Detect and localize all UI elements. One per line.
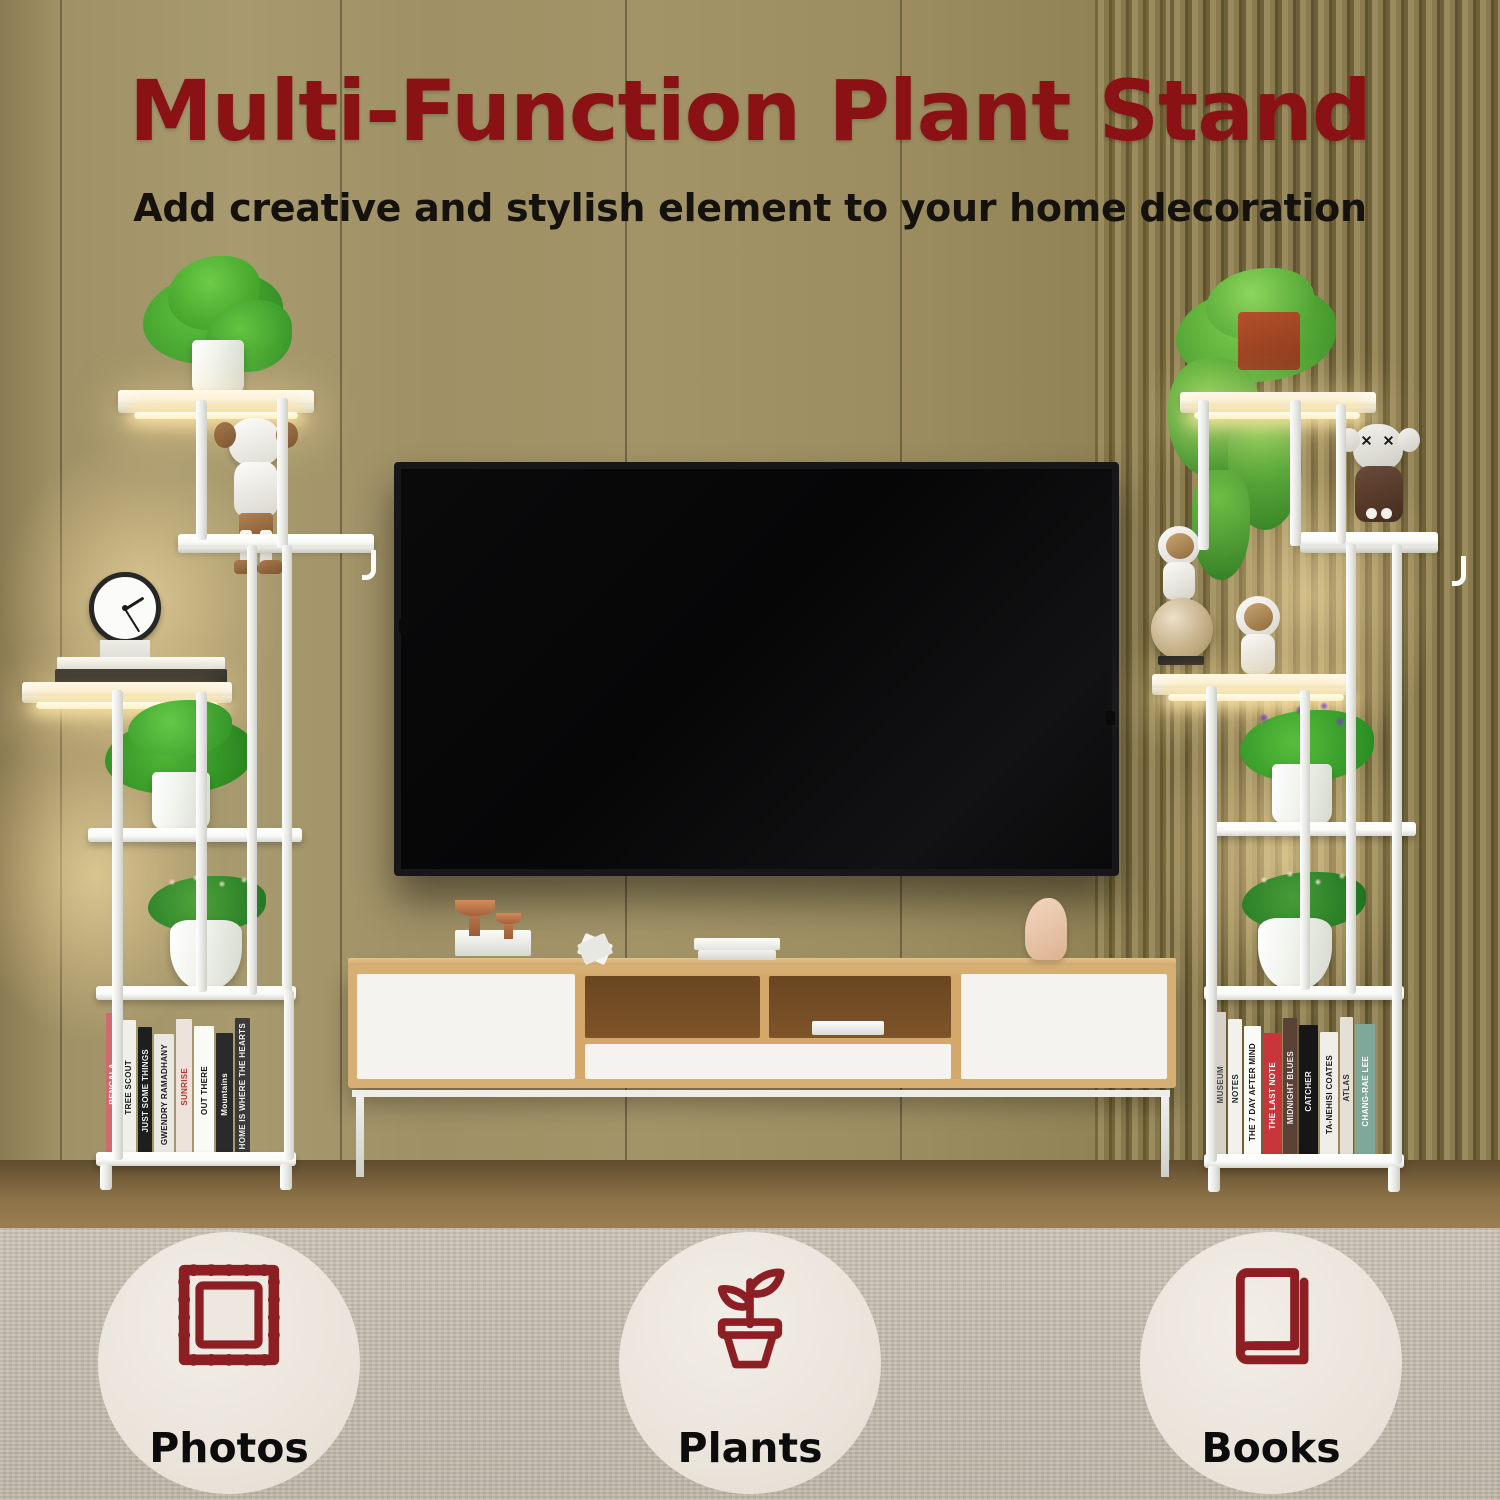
stand-post bbox=[1336, 404, 1346, 544]
stand-post bbox=[284, 990, 294, 1160]
book-title: ATLAS bbox=[1342, 1074, 1351, 1102]
white-plant-pot bbox=[192, 340, 244, 396]
stand-base-shelf bbox=[1204, 1154, 1404, 1168]
book-row-left: BENGALATREE SCOUTJUST SOME THINGSGWENDRY… bbox=[106, 1010, 250, 1155]
book-title: TA-NEHISI COATES bbox=[1325, 1055, 1334, 1134]
book-title: CATCHER bbox=[1304, 1071, 1313, 1112]
console-leg bbox=[1161, 1095, 1169, 1177]
flower-blooms bbox=[160, 872, 256, 906]
book-title: SUNRISE bbox=[180, 1068, 189, 1106]
book-title: THE LAST NOTE bbox=[1268, 1062, 1277, 1129]
beige-face-sculpture bbox=[1025, 898, 1067, 960]
book-title: NOTES bbox=[1231, 1074, 1240, 1103]
product-marketing-image: Multi-Function Plant Stand Add creative … bbox=[0, 0, 1500, 1500]
white-tray-stack bbox=[698, 950, 776, 960]
badge-label: Books bbox=[1140, 1424, 1402, 1472]
badge-books[interactable]: Books bbox=[1140, 1232, 1402, 1494]
stand-post bbox=[112, 690, 123, 1160]
tv-console bbox=[348, 965, 1176, 1088]
stand-post bbox=[1346, 544, 1356, 994]
book-spine: GWENDRY RAMADHANY bbox=[154, 1034, 174, 1155]
stand-post bbox=[1392, 544, 1402, 1164]
table-clock bbox=[89, 572, 161, 644]
terracotta-pot bbox=[1238, 312, 1300, 370]
shelf-edge bbox=[1300, 546, 1438, 553]
console-drawer bbox=[585, 1044, 951, 1079]
white-tray-stack bbox=[694, 938, 780, 950]
stand-shelf-4 bbox=[1212, 822, 1416, 836]
stand-post bbox=[196, 692, 207, 992]
book-spine: CHANG-RAE LEE bbox=[1355, 1024, 1375, 1158]
book-title: Mountains bbox=[220, 1073, 229, 1116]
book-title: JUST SOME THINGS bbox=[141, 1049, 150, 1132]
book-spine: ATLAS bbox=[1340, 1017, 1353, 1158]
stand-post bbox=[1198, 400, 1209, 550]
stand-post bbox=[277, 398, 288, 548]
tv-side-nub bbox=[1106, 711, 1115, 725]
badge-label: Photos bbox=[98, 1424, 360, 1472]
page-subtitle: Add creative and stylish element to your… bbox=[0, 186, 1500, 230]
page-title: Multi-Function Plant Stand bbox=[0, 62, 1500, 160]
console-base-rail bbox=[352, 1090, 1170, 1097]
console-leg bbox=[356, 1095, 364, 1177]
copper-bowl bbox=[455, 900, 495, 916]
led-strip bbox=[134, 412, 298, 419]
shelf-hook-icon bbox=[362, 550, 376, 580]
book-title: CHANG-RAE LEE bbox=[1361, 1056, 1370, 1127]
book-title: OUT THERE bbox=[200, 1066, 209, 1115]
stand-post bbox=[1300, 690, 1310, 990]
led-strip bbox=[1168, 694, 1344, 701]
book-title: HOME IS WHERE THE HEARTS bbox=[238, 1023, 247, 1149]
book-icon bbox=[1212, 1256, 1330, 1379]
cubby-book-stack bbox=[812, 1021, 884, 1035]
console-door-right bbox=[961, 974, 1167, 1079]
book-title: THE 7 DAY AFTER MIND bbox=[1248, 1043, 1257, 1141]
photo-frame-icon bbox=[170, 1256, 288, 1379]
copper-candle-holder bbox=[496, 913, 521, 924]
book-title: MIDNIGHT BLUES bbox=[1286, 1051, 1295, 1124]
feature-badge-row: Photos Plants bbox=[0, 1232, 1500, 1500]
potted-plant-icon bbox=[691, 1256, 809, 1379]
white-book-stack bbox=[455, 930, 531, 956]
stand-foot bbox=[280, 1164, 292, 1190]
console-door-left bbox=[357, 974, 575, 1079]
book-spine: MIDNIGHT BLUES bbox=[1283, 1018, 1297, 1158]
stand-post bbox=[282, 545, 292, 995]
book-spine: HOME IS WHERE THE HEARTS bbox=[235, 1018, 250, 1155]
stand-post bbox=[1206, 686, 1217, 1162]
book-title: TREE SCOUT bbox=[124, 1060, 133, 1115]
shelf-hook-icon bbox=[1452, 556, 1466, 586]
stand-base-shelf bbox=[96, 1152, 296, 1166]
stand-foot bbox=[100, 1164, 112, 1190]
stand-post bbox=[1290, 400, 1301, 546]
book-spine: JUST SOME THINGS bbox=[138, 1027, 152, 1155]
book-spine: TREE SCOUT bbox=[121, 1020, 136, 1155]
book-spine: CATCHER bbox=[1299, 1025, 1318, 1158]
book-spine: NOTES bbox=[1228, 1019, 1242, 1158]
badge-photos[interactable]: Photos bbox=[98, 1232, 360, 1494]
console-open-cubby bbox=[585, 976, 760, 1038]
wall-seam bbox=[340, 0, 342, 1212]
book-row-right: MUSEUMNOTESTHE 7 DAY AFTER MINDTHE LAST … bbox=[1214, 1010, 1375, 1158]
book-spine: THE 7 DAY AFTER MIND bbox=[1244, 1026, 1261, 1158]
stand-post bbox=[247, 545, 257, 995]
book-spine: OUT THERE bbox=[194, 1026, 214, 1155]
badge-label: Plants bbox=[619, 1424, 881, 1472]
stand-post bbox=[196, 400, 207, 540]
book-title: GWENDRY RAMADHANY bbox=[160, 1044, 169, 1145]
wall-mounted-tv bbox=[394, 462, 1119, 876]
book-spine: SUNRISE bbox=[176, 1019, 192, 1155]
book-spine: Mountains bbox=[216, 1033, 233, 1155]
shelf-edge bbox=[178, 547, 374, 553]
tv-screen bbox=[401, 469, 1112, 869]
badge-plants[interactable]: Plants bbox=[619, 1232, 881, 1494]
moon-sphere-ornament bbox=[1151, 598, 1213, 660]
book-spine: THE LAST NOTE bbox=[1263, 1033, 1281, 1158]
wall-seam bbox=[60, 0, 62, 1212]
book-spine: TA-NEHISI COATES bbox=[1320, 1032, 1338, 1158]
stand-foot bbox=[1388, 1166, 1400, 1192]
tv-side-nub bbox=[399, 619, 408, 633]
moon-lamp-base bbox=[1158, 656, 1204, 665]
stand-foot bbox=[1208, 1166, 1220, 1192]
